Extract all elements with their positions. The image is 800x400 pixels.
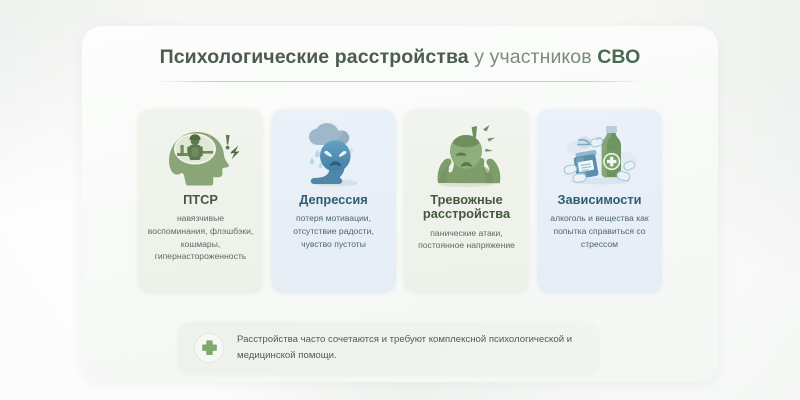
card-anxiety-title: Тревожные расстройства xyxy=(410,193,523,222)
card-addiction[interactable]: Зависимости алкоголь и вещества как попы… xyxy=(537,109,662,293)
card-ptsr[interactable]: ПТСР навязчивые воспоминания, флэшбэки, … xyxy=(138,109,263,293)
infographic-panel: Психологические расстройства у участнико… xyxy=(82,26,718,382)
card-ptsr-icon-wrap xyxy=(161,119,241,191)
card-addiction-icon-wrap xyxy=(554,119,646,191)
header: Психологические расстройства у участнико… xyxy=(82,46,718,82)
medical-cross-icon xyxy=(200,339,219,358)
card-anxiety[interactable]: Тревожные расстройства панические атаки,… xyxy=(404,109,529,293)
card-addiction-desc: алкоголь и вещества как попытка справить… xyxy=(543,212,656,250)
header-divider xyxy=(154,81,646,82)
note-text: Расстройства часто сочетаются и требуют … xyxy=(237,332,582,363)
card-addiction-title: Зависимости xyxy=(557,193,641,207)
page-title: Психологические расстройства у участнико… xyxy=(82,46,718,69)
title-strong-part: Психологические расстройства xyxy=(160,46,469,68)
stressed-person-head-clutch-icon xyxy=(424,121,510,189)
card-ptsr-title: ПТСР xyxy=(183,193,218,207)
sad-face-rain-cloud-icon xyxy=(294,121,374,189)
title-accent-part: СВО xyxy=(597,46,640,68)
note-badge xyxy=(194,333,224,363)
bottle-and-pills-icon xyxy=(554,121,646,189)
disorder-cards-row: ПТСР навязчивые воспоминания, флэшбэки, … xyxy=(138,109,662,293)
card-depression-desc: потеря мотивации, отсутствие радости, чу… xyxy=(277,212,390,250)
card-ptsr-desc: навязчивые воспоминания, флэшбэки, кошма… xyxy=(144,212,257,263)
card-anxiety-desc: панические атаки, постоянное напряжение xyxy=(410,227,523,252)
card-anxiety-icon-wrap xyxy=(424,119,510,191)
card-depression-icon-wrap xyxy=(294,119,374,191)
head-soldier-thought-icon xyxy=(161,121,241,189)
summary-note: Расстройства часто сочетаются и требуют … xyxy=(178,322,598,374)
card-depression[interactable]: Депрессия потеря мотивации, отсутствие р… xyxy=(271,109,396,293)
card-depression-title: Депрессия xyxy=(299,193,367,207)
title-light-part: у участников xyxy=(469,46,597,68)
